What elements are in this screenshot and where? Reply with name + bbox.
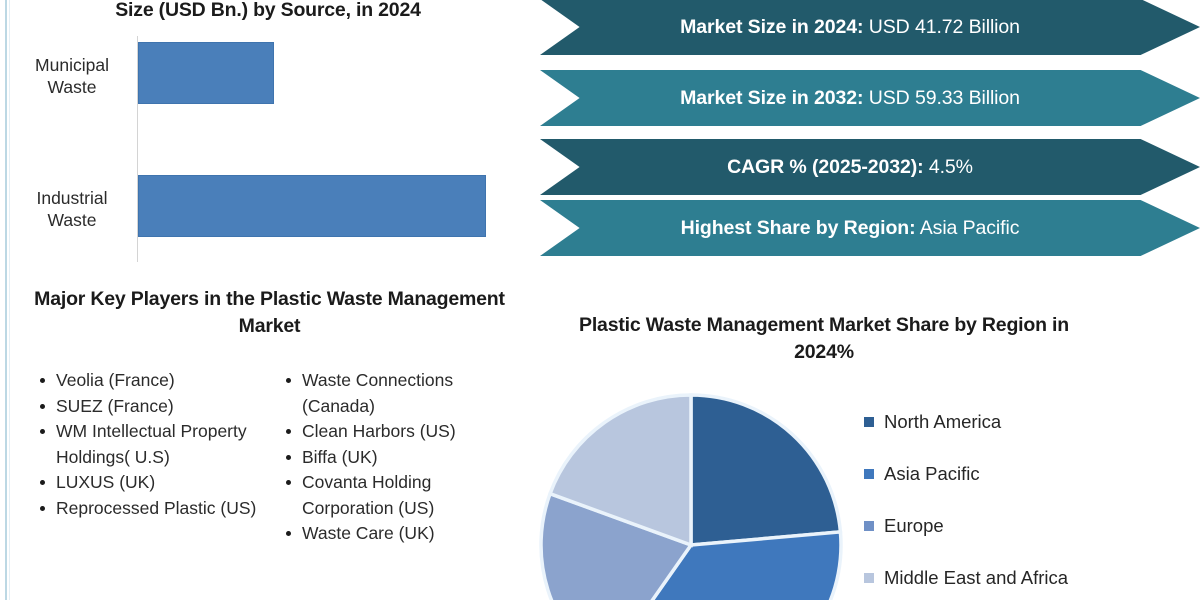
bar-chart-plot-area: Municipal Waste Industrial Waste [12,36,524,268]
banner-label-cagr: CAGR % (2025-2032): [727,156,923,178]
legend-item-middle-east-and-africa[interactable]: Middle East and Africa [864,552,1194,600]
key-player-name: WM Intellectual Property Holdings( U.S) [56,419,266,470]
bullet-icon [40,404,45,409]
banner-label-market-size-2032: Market Size in 2032: [680,87,863,109]
banner-highest-share-region[interactable]: Highest Share by Region: Asia Pacific [540,200,1200,256]
key-player-name: Waste Care (UK) [302,521,435,547]
banner-text-market-size-2032: Market Size in 2032: USD 59.33 Billion [680,87,1020,110]
banner-value-market-size-2024: USD 41.72 Billion [869,16,1020,38]
legend-swatch-north-america [864,417,874,427]
legend-item-asia-pacific[interactable]: Asia Pacific [864,448,1194,500]
legend-label-asia-pacific: Asia Pacific [884,463,980,485]
banner-market-size-2032[interactable]: Market Size in 2032: USD 59.33 Billion [540,70,1200,126]
legend-item-europe[interactable]: Europe [864,500,1194,552]
bullet-icon [286,429,291,434]
list-item: Covanta Holding Corporation (US) [284,470,524,521]
legend-label-north-america: North America [884,411,1001,433]
list-item: LUXUS (UK) [38,470,268,496]
banner-value-market-size-2032: USD 59.33 Billion [869,87,1020,109]
legend-swatch-asia-pacific [864,469,874,479]
bullet-icon [286,531,291,536]
key-players-panel: Major Key Players in the Plastic Waste M… [12,278,524,600]
banner-label-highest-share-region: Highest Share by Region: [681,217,916,239]
pie-chart-legend: North America Asia Pacific Europe Middle… [864,396,1194,600]
pie-chart-title: Plastic Waste Management Market Share by… [564,312,1084,366]
key-player-name: LUXUS (UK) [56,470,155,496]
key-players-column-left: Veolia (France) SUEZ (France) WM Intelle… [12,368,268,547]
list-item: SUEZ (France) [38,394,268,420]
key-players-title: Major Key Players in the Plastic Waste M… [22,286,517,340]
legend-item-north-america[interactable]: North America [864,396,1194,448]
list-item: Clean Harbors (US) [284,419,524,445]
banner-value-cagr: 4.5% [929,156,973,178]
bar-chart-title: Size (USD Bn.) by Source, in 2024 [12,0,524,22]
list-item: Reprocessed Plastic (US) [38,496,268,522]
left-frame-border [5,0,7,600]
bullet-icon [286,378,291,383]
list-item: Veolia (France) [38,368,268,394]
bullet-icon [40,480,45,485]
bar-category-label-industrial-waste: Industrial Waste [12,187,132,231]
key-player-name: Reprocessed Plastic (US) [56,496,256,522]
bullet-icon [286,455,291,460]
key-player-name: Clean Harbors (US) [302,419,456,445]
banner-text-highest-share-region: Highest Share by Region: Asia Pacific [681,217,1020,240]
key-player-name: SUEZ (France) [56,394,174,420]
legend-label-europe: Europe [884,515,944,537]
key-player-name: Waste Connections (Canada) [302,368,512,419]
list-item: Waste Care (UK) [284,521,524,547]
plastic-waste-management-infographic: Size (USD Bn.) by Source, in 2024 Munici… [0,0,1200,600]
key-player-name: Covanta Holding Corporation (US) [302,470,512,521]
key-player-name: Veolia (France) [56,368,175,394]
market-highlights-banners: Market Size in 2024: USD 41.72 Billion M… [540,0,1200,262]
banner-text-market-size-2024: Market Size in 2024: USD 41.72 Billion [680,16,1020,39]
key-players-columns: Veolia (France) SUEZ (France) WM Intelle… [12,368,524,547]
banner-cagr[interactable]: CAGR % (2025-2032): 4.5% [540,139,1200,195]
list-item: WM Intellectual Property Holdings( U.S) [38,419,268,470]
banner-text-cagr: CAGR % (2025-2032): 4.5% [727,156,973,179]
left-frame-border-inner [9,0,10,600]
bullet-icon [40,506,45,511]
bullet-icon [286,480,291,485]
pie-slice-north-america[interactable] [691,395,840,545]
bullet-icon [40,378,45,383]
legend-swatch-middle-east-and-africa [864,573,874,583]
legend-label-middle-east-and-africa: Middle East and Africa [884,567,1068,589]
key-players-column-right: Waste Connections (Canada) Clean Harbors… [268,368,524,547]
bar-industrial-waste[interactable] [138,175,486,237]
list-item: Biffa (UK) [284,445,524,471]
pie-chart-panel: Plastic Waste Management Market Share by… [524,300,1200,600]
bar-municipal-waste[interactable] [138,42,274,104]
key-player-name: Biffa (UK) [302,445,378,471]
bullet-icon [40,429,45,434]
list-item: Waste Connections (Canada) [284,368,524,419]
bar-category-label-municipal-waste: Municipal Waste [12,54,132,98]
banner-market-size-2024[interactable]: Market Size in 2024: USD 41.72 Billion [540,0,1200,55]
pie-chart-graphic [530,376,860,600]
banner-label-market-size-2024: Market Size in 2024: [680,16,863,38]
banner-value-highest-share-region: Asia Pacific [920,217,1020,239]
legend-swatch-europe [864,521,874,531]
bar-chart-panel: Size (USD Bn.) by Source, in 2024 Munici… [12,0,524,272]
